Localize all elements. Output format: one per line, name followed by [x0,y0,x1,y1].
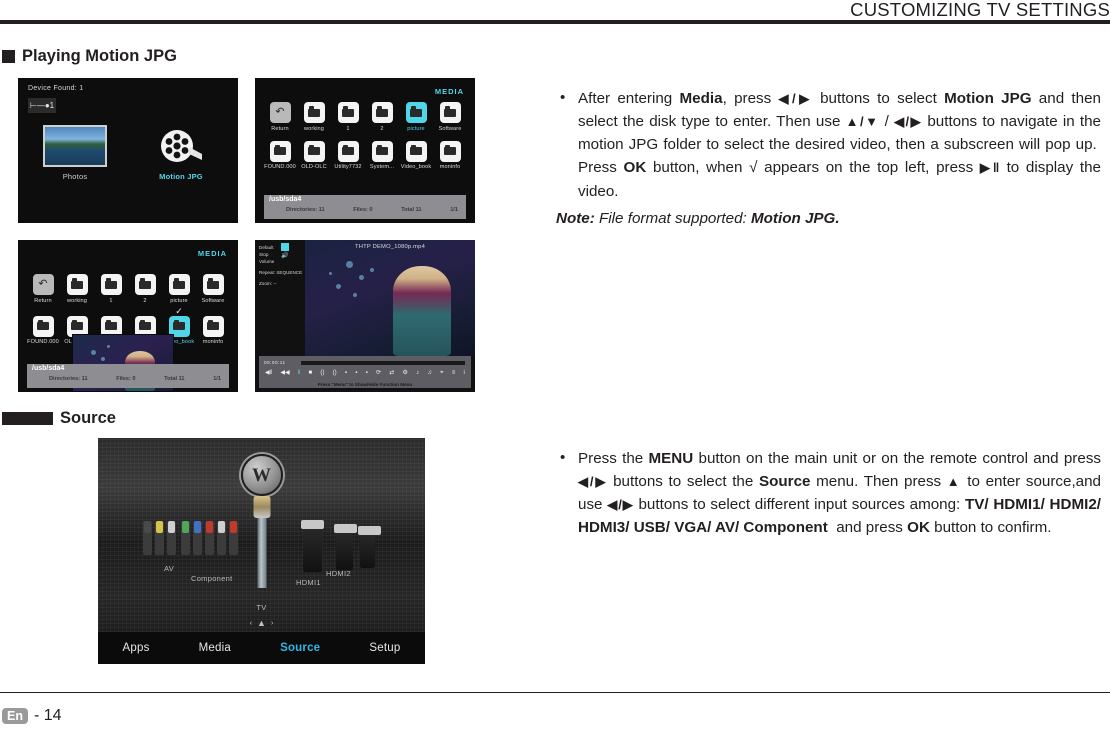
note-text: File format supported: [595,210,751,227]
language-badge: En [2,708,28,724]
tile-photos[interactable]: Photos [43,125,107,181]
status-directories: Directories: 11 [286,207,325,213]
media-screen-title: MEDIA [198,249,227,258]
status-path: /usb/sda4 [32,365,64,372]
video-control-bar[interactable]: 00:00:11 ◀‖ ◀◀ ‖ ■ () () ▪ ▪ ▪ ⟳ ⇄ ⚙ ♪ ♫… [259,356,471,388]
footer-divider [0,692,1110,694]
status-page: 1/1 [450,207,458,213]
video-osd-info: Default Stop Volume Repeat: SEQUENCE Zoo… [259,245,303,287]
folder-icon [270,141,291,162]
status-directories: Directories: 11 [49,376,88,382]
folder-label: picture [163,298,195,304]
folder-icon [203,316,224,337]
folder-item-moninfo[interactable]: moninfo [434,141,466,171]
arrow-left-icon[interactable]: ‹ [250,620,252,627]
folder-item-old-olc[interactable]: OLD-OLC [298,141,330,171]
bullet-icon: • [560,87,565,110]
folder-label: FOUND.000 [27,339,59,345]
zoom-icon[interactable]: ⌖ [440,370,443,376]
stop-icon[interactable]: ■ [309,370,313,376]
folder-item-utility7732[interactable]: Utility7732 [332,141,364,171]
note-motion-jpg: Note: File format supported: Motion JPG. [556,193,1101,246]
arrow-up-icon[interactable]: ▲ [257,618,266,628]
section-bullet-icon [2,412,53,425]
media-screen-title: MEDIA [435,87,464,96]
folder-label: moninfo [197,339,229,345]
osd-volume: Volume [259,259,303,266]
folder-label: Return [27,298,59,304]
folder-item-2[interactable]: 2 [366,102,398,132]
film-reel-icon [149,125,213,167]
tile-motion-jpg[interactable]: Motion JPG [149,125,213,181]
device-found-status: Device Found: 1 [28,85,83,92]
media-type-tiles: Photos Motion JPG [18,125,238,181]
folder-icon [372,102,393,123]
status-path: /usb/sda4 [269,196,301,203]
folder-icon [372,141,393,162]
folder-icon [440,141,461,162]
folder-label: moninfo [434,164,466,170]
folder-label: System... [366,164,398,170]
folder-label: picture [400,126,432,132]
page-header: CUSTOMIZING TV SETTINGS [0,0,1110,26]
hdmi-plug-icon[interactable] [360,532,375,568]
folder-item-working[interactable]: working [61,274,93,304]
folder-item-software[interactable]: Software [197,274,229,304]
osd-zoom: Zoom: -- [259,281,303,288]
folder-label: Utility7732 [332,164,364,170]
nav-item-apps[interactable]: Apps [123,642,150,654]
source-menu-navbar: Apps Media Source Setup [98,632,425,664]
folder-icon [304,102,325,123]
connector-label-hdmi2: HDMI2 [326,569,351,578]
media-status-bar: /usb/sda4 Directories: 11 Files: 0 Total… [27,364,229,388]
dot2-icon[interactable]: ▪ [355,370,357,376]
video-title: THTP DEMO_1080p.mp4 [305,244,475,250]
note-emphasis: Motion JPG. [751,210,840,227]
folder-item-1[interactable]: 1 [332,102,364,132]
folder-label: 1 [95,298,127,304]
note-label: Note: [556,210,595,227]
component-plug-icon[interactable] [181,521,238,555]
video-hint-text: Press "Menu" to Show/Hide Function Menu [259,382,471,387]
folder-label: 2 [366,126,398,132]
screenshot-source-menu: W AV Component TV HDMI1 HDMI2 ‹ ▲ › Apps… [98,438,425,664]
folder-icon [406,102,427,123]
nav-item-media[interactable]: Media [199,642,231,654]
music2-icon[interactable]: ♫ [427,370,432,376]
instruction-source: • Press the MENU button on the main unit… [556,432,1101,555]
folder-row-1: ↶ Return working 1 2 picture Software [264,102,466,132]
connector-label-av: AV [164,564,174,573]
status-total: Total 11 [401,207,421,213]
section-bullet-icon [2,50,15,63]
folder-icon [101,274,122,295]
shuffle-icon[interactable]: ⇄ [389,370,394,376]
section-heading-source: Source [2,409,116,428]
folder-label: 2 [129,298,161,304]
connector-label-hdmi1: HDMI1 [296,578,321,587]
tile-label: Motion JPG [149,172,213,181]
folder-label: working [298,126,330,132]
page-title: CUSTOMIZING TV SETTINGS [850,0,1110,21]
photo-thumbnail-icon [43,125,107,167]
folder-item-system[interactable]: System... [366,141,398,171]
folder-icon [67,274,88,295]
speaker-icon: 🔊 [281,253,288,259]
folder-icon [304,141,325,162]
folder-icon [169,274,190,295]
folder-icon [338,102,359,123]
progress-bar[interactable] [301,361,465,365]
folder-label: 1 [332,126,364,132]
media-status-bar: /usb/sda4 Directories: 11 Files: 0 Total… [264,195,466,219]
folder-item-picture[interactable]: picture [400,102,432,132]
status-page: 1/1 [213,376,221,382]
section-label: Source [60,409,116,428]
dot1-icon[interactable]: ▪ [345,370,347,376]
folder-item-video-book[interactable]: Video_book [400,141,432,171]
folder-label: OLD-OLC [298,164,330,170]
folder-icon [338,141,359,162]
prev-icon[interactable]: ◀‖ [265,370,272,376]
folder-item-return[interactable]: ↶ Return [27,274,59,304]
folder-label: Software [197,298,229,304]
next-icon[interactable]: () [333,370,337,376]
usb-icon: ⊢—●1 [28,98,56,113]
screenshot-media-browser: MEDIA ↶ Return working 1 2 picture [255,78,475,223]
folder-label: Return [264,126,296,132]
paragraph-source: • Press the MENU button on the main unit… [556,447,1101,539]
bullet-icon: • [560,447,565,470]
folder-icon [135,274,156,295]
osd-repeat: Repeat: SEQUENCE [259,270,303,277]
info-icon[interactable]: i [463,370,464,376]
folder-icon [203,274,224,295]
header-divider [0,20,1110,24]
folder-item-found000[interactable]: FOUND.000 [264,141,296,171]
folder-item-1[interactable]: 1 [95,274,127,304]
folder-item-return[interactable]: ↶ Return [264,102,296,132]
return-icon: ↶ [270,102,291,123]
tile-label: Photos [43,172,107,181]
checkmark-icon: ✓ [175,307,183,316]
folder-icon [406,141,427,162]
page-number: - 14 [34,707,62,725]
page-footer: En - 14 [2,707,62,725]
folder-item-2[interactable]: 2 [129,274,161,304]
status-total: Total 11 [164,376,184,382]
paragraph-text: Press the MENU button on the main unit o… [578,450,1101,536]
screenshot-video-player: Default Stop Volume Repeat: SEQUENCE Zoo… [255,240,475,392]
section-heading-motion-jpg: Playing Motion JPG [2,47,177,66]
nav-item-source[interactable]: Source [280,642,320,654]
pause-icon[interactable]: ‖ [298,370,300,376]
paragraph-text: After entering Media, press ◀/▶ buttons … [578,90,1101,199]
folder-grid: ↶ Return working 1 2 picture Software [264,102,466,175]
forward-icon[interactable]: () [320,370,324,376]
westinghouse-w-logo-icon: W [241,454,283,496]
paragraph-motion-jpg: • After entering Media, press ◀/▶ button… [556,87,1101,202]
hdmi-plug-icon[interactable] [303,526,322,572]
folder-icon [440,102,461,123]
status-files: Files: 0 [353,207,372,213]
rewind-icon[interactable]: ◀◀ [280,370,289,376]
return-icon: ↶ [33,274,54,295]
video-stage: THTP DEMO_1080p.mp4 [305,240,475,356]
connector-label-component: Component [191,574,232,583]
folder-item-moninfo[interactable]: moninfo [197,316,229,346]
folder-label: Software [434,126,466,132]
section-label: Playing Motion JPG [22,47,177,66]
settings-icon[interactable]: ⚙ [403,370,408,376]
folder-row-1: ↶ Return working 1 2 picture Software [27,274,229,304]
note-line: Note: File format supported: Motion JPG. [556,208,1101,231]
source-nav-arrows[interactable]: ‹ ▲ › [250,618,274,628]
logo-letter: W [252,466,271,485]
dot3-icon[interactable]: ▪ [366,370,368,376]
folder-label: working [61,298,93,304]
list-icon[interactable]: ≡ [452,370,456,376]
folder-row-2: FOUND.000 OLD-OLC Utility7732 System... … [264,141,466,171]
status-files: Files: 0 [116,376,135,382]
folder-label: FOUND.000 [264,164,296,170]
nav-item-setup[interactable]: Setup [369,642,400,654]
folder-item-software[interactable]: Software [434,102,466,132]
folder-item-picture[interactable]: picture [163,274,195,304]
screenshot-media-browser-preview: MEDIA ↶ Return working 1 2 picture [18,240,238,392]
hdmi-plug-icon[interactable] [336,530,353,570]
av-plug-icon[interactable] [143,521,176,555]
transport-buttons: ◀‖ ◀◀ ‖ ■ () () ▪ ▪ ▪ ⟳ ⇄ ⚙ ♪ ♫ ⌖ ≡ i [265,370,465,376]
repeat-icon[interactable]: ⟳ [376,370,381,376]
osd-color-chip-icon [281,243,289,251]
folder-item-found000[interactable]: FOUND.000 [27,316,59,346]
coax-antenna-icon[interactable] [257,510,266,588]
music-icon[interactable]: ♪ [416,370,419,376]
screenshot-device-found: Device Found: 1 ⊢—●1 Photos M [18,78,238,223]
folder-label: Video_book [400,164,432,170]
connector-label-tv: TV [256,603,266,612]
elapsed-time: 00:00:11 [264,360,286,365]
folder-item-working[interactable]: working [298,102,330,132]
folder-icon [33,316,54,337]
arrow-right-icon[interactable]: › [271,620,273,627]
